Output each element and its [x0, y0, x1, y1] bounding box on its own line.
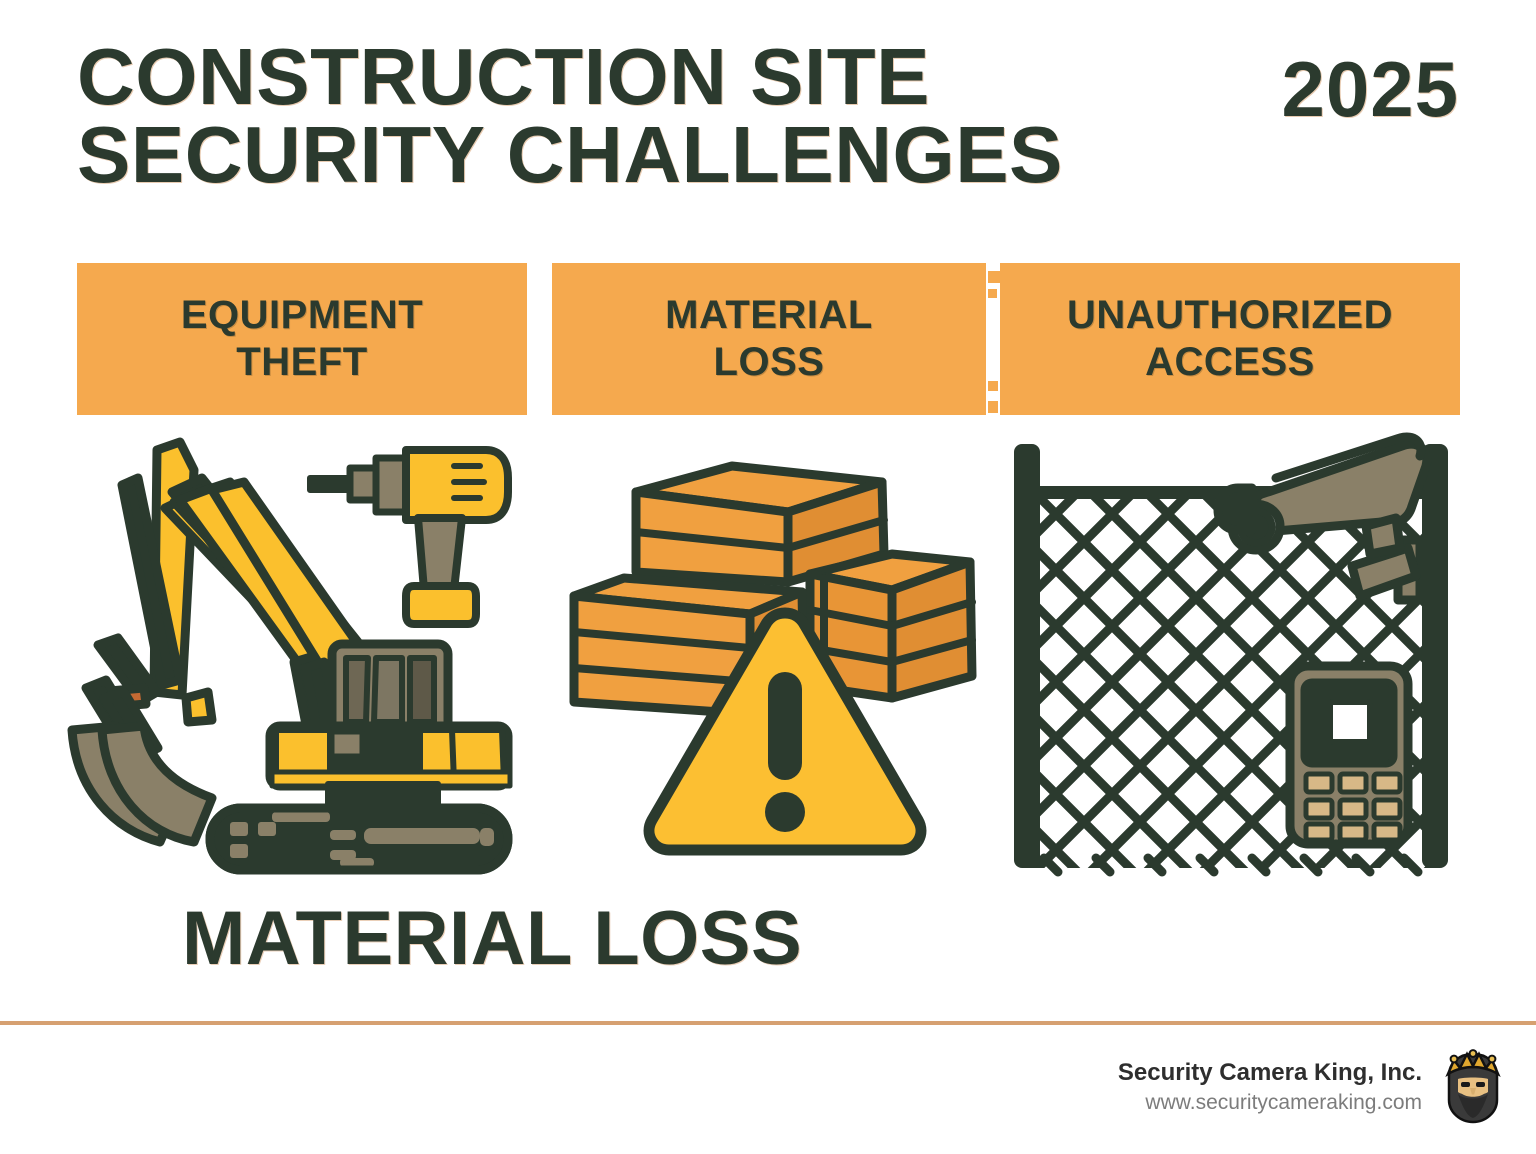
- category-label-unauthorized-access: UNAUTHORIZEDACCESS: [1061, 292, 1399, 386]
- category-box-material-loss[interactable]: MATERIALLOSS: [552, 263, 986, 415]
- title-line-2: SECURITY CHALLENGES: [77, 110, 1063, 199]
- footer: Security Camera King, Inc. www.securityc…: [1118, 1048, 1510, 1126]
- divider-notch: [988, 271, 1000, 283]
- page-title: CONSTRUCTION SITE SECURITY CHALLENGES 20…: [77, 38, 1477, 218]
- footer-divider: [0, 1021, 1536, 1025]
- footer-text: Security Camera King, Inc. www.securityc…: [1118, 1057, 1422, 1118]
- category-label-material-loss: MATERIALLOSS: [659, 292, 879, 386]
- title-line-1: CONSTRUCTION SITE: [77, 32, 930, 121]
- title-year: 2025: [1281, 44, 1459, 135]
- brick-stack-warning-icon: [552, 450, 982, 865]
- divider-notch: [988, 381, 998, 391]
- company-name: Security Camera King, Inc.: [1118, 1057, 1422, 1089]
- excavator-drill-icon: [62, 430, 542, 885]
- category-label-equipment-theft: EQUIPMENTTHEFT: [175, 292, 429, 386]
- category-header-row: EQUIPMENTTHEFT MATERIALLOSS UNAUTHORIZED…: [0, 263, 1536, 415]
- bottom-caption: MATERIAL LOSS: [182, 895, 802, 982]
- title-main: CONSTRUCTION SITE SECURITY CHALLENGES: [77, 38, 1197, 193]
- king-head-logo-icon: [1436, 1048, 1510, 1126]
- category-box-equipment-theft[interactable]: EQUIPMENTTHEFT: [77, 263, 527, 415]
- divider-notch: [988, 289, 997, 298]
- company-website[interactable]: www.securitycameraking.com: [1118, 1089, 1422, 1117]
- category-box-unauthorized-access[interactable]: UNAUTHORIZEDACCESS: [1000, 263, 1460, 415]
- divider-notch: [988, 401, 998, 413]
- infographic-page: CONSTRUCTION SITE SECURITY CHALLENGES 20…: [0, 0, 1536, 1154]
- fence-camera-keypad-icon: [1000, 430, 1470, 885]
